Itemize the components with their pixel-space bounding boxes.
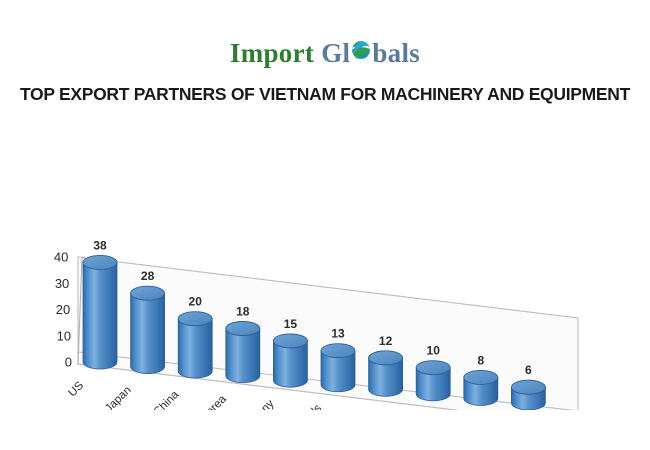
y-tick-label-20: 20 (56, 302, 70, 317)
logo-text-import: Import (230, 38, 314, 68)
value-label-australia: 6 (525, 363, 532, 377)
value-label-united-kingdom: 8 (477, 353, 484, 367)
bar-cylinder[interactable] (416, 361, 450, 401)
category-label-south-korea: South Korea (175, 393, 229, 410)
category-label-netherlands: Netherlands (272, 402, 325, 410)
bar-cylinder[interactable] (178, 312, 212, 378)
page-title: TOP EXPORT PARTNERS OF VIETNAM FOR MACHI… (0, 84, 650, 105)
logo-text-bals: bals (372, 38, 420, 68)
bar-cylinder[interactable] (369, 351, 403, 396)
bar-cylinder[interactable] (511, 380, 545, 410)
category-label-japan: Japan (103, 384, 134, 410)
brand-logo: Import Gl bals (0, 38, 650, 69)
cylinder-top (511, 380, 545, 394)
value-label-japan: 28 (141, 269, 155, 283)
bar-cylinder[interactable] (226, 321, 260, 382)
cylinder-top (83, 255, 117, 269)
chart-svg: 010203040 382820181513121086 USJapanChin… (0, 110, 650, 410)
bar-cylinder[interactable] (464, 370, 498, 405)
value-label-us: 38 (93, 238, 107, 252)
y-tick-label-0: 0 (65, 355, 72, 370)
value-label-south-korea: 18 (236, 304, 250, 318)
value-label-netherlands: 13 (331, 327, 345, 341)
value-label-thailand: 10 (427, 344, 441, 358)
bar-cylinder[interactable] (321, 344, 355, 392)
cylinder-body (83, 262, 117, 369)
cylinder-body (131, 293, 165, 373)
bar-cylinder[interactable] (273, 334, 307, 387)
category-label-cambodia: Cambodia (326, 407, 372, 410)
value-label-china: 20 (189, 295, 203, 309)
category-label-germany: Germany (235, 398, 277, 410)
y-axis-ticks: 010203040 (54, 250, 72, 370)
y-tick-label-40: 40 (54, 250, 68, 265)
value-label-cambodia: 12 (379, 334, 393, 348)
cylinder-top (226, 321, 260, 335)
cylinder-top (416, 361, 450, 375)
cylinder-top (131, 286, 165, 300)
y-tick-label-30: 30 (55, 276, 69, 291)
cylinder-top (464, 370, 498, 384)
cylinder-body (178, 319, 212, 378)
logo-text-gl: Gl (321, 38, 350, 68)
y-tick-label-10: 10 (57, 328, 71, 343)
category-label-china: China (152, 388, 182, 410)
cylinder-top (321, 344, 355, 358)
cylinder-body (226, 328, 260, 382)
bar-cylinder[interactable] (131, 286, 165, 373)
cylinder-top (369, 351, 403, 365)
bar-cylinder[interactable] (83, 255, 117, 369)
category-label-us: US (66, 379, 86, 399)
bar-chart: 010203040 382820181513121086 USJapanChin… (0, 110, 650, 410)
cylinder-top (273, 334, 307, 348)
globe-icon (350, 39, 372, 61)
value-label-germany: 15 (284, 317, 298, 331)
cylinder-top (178, 312, 212, 326)
